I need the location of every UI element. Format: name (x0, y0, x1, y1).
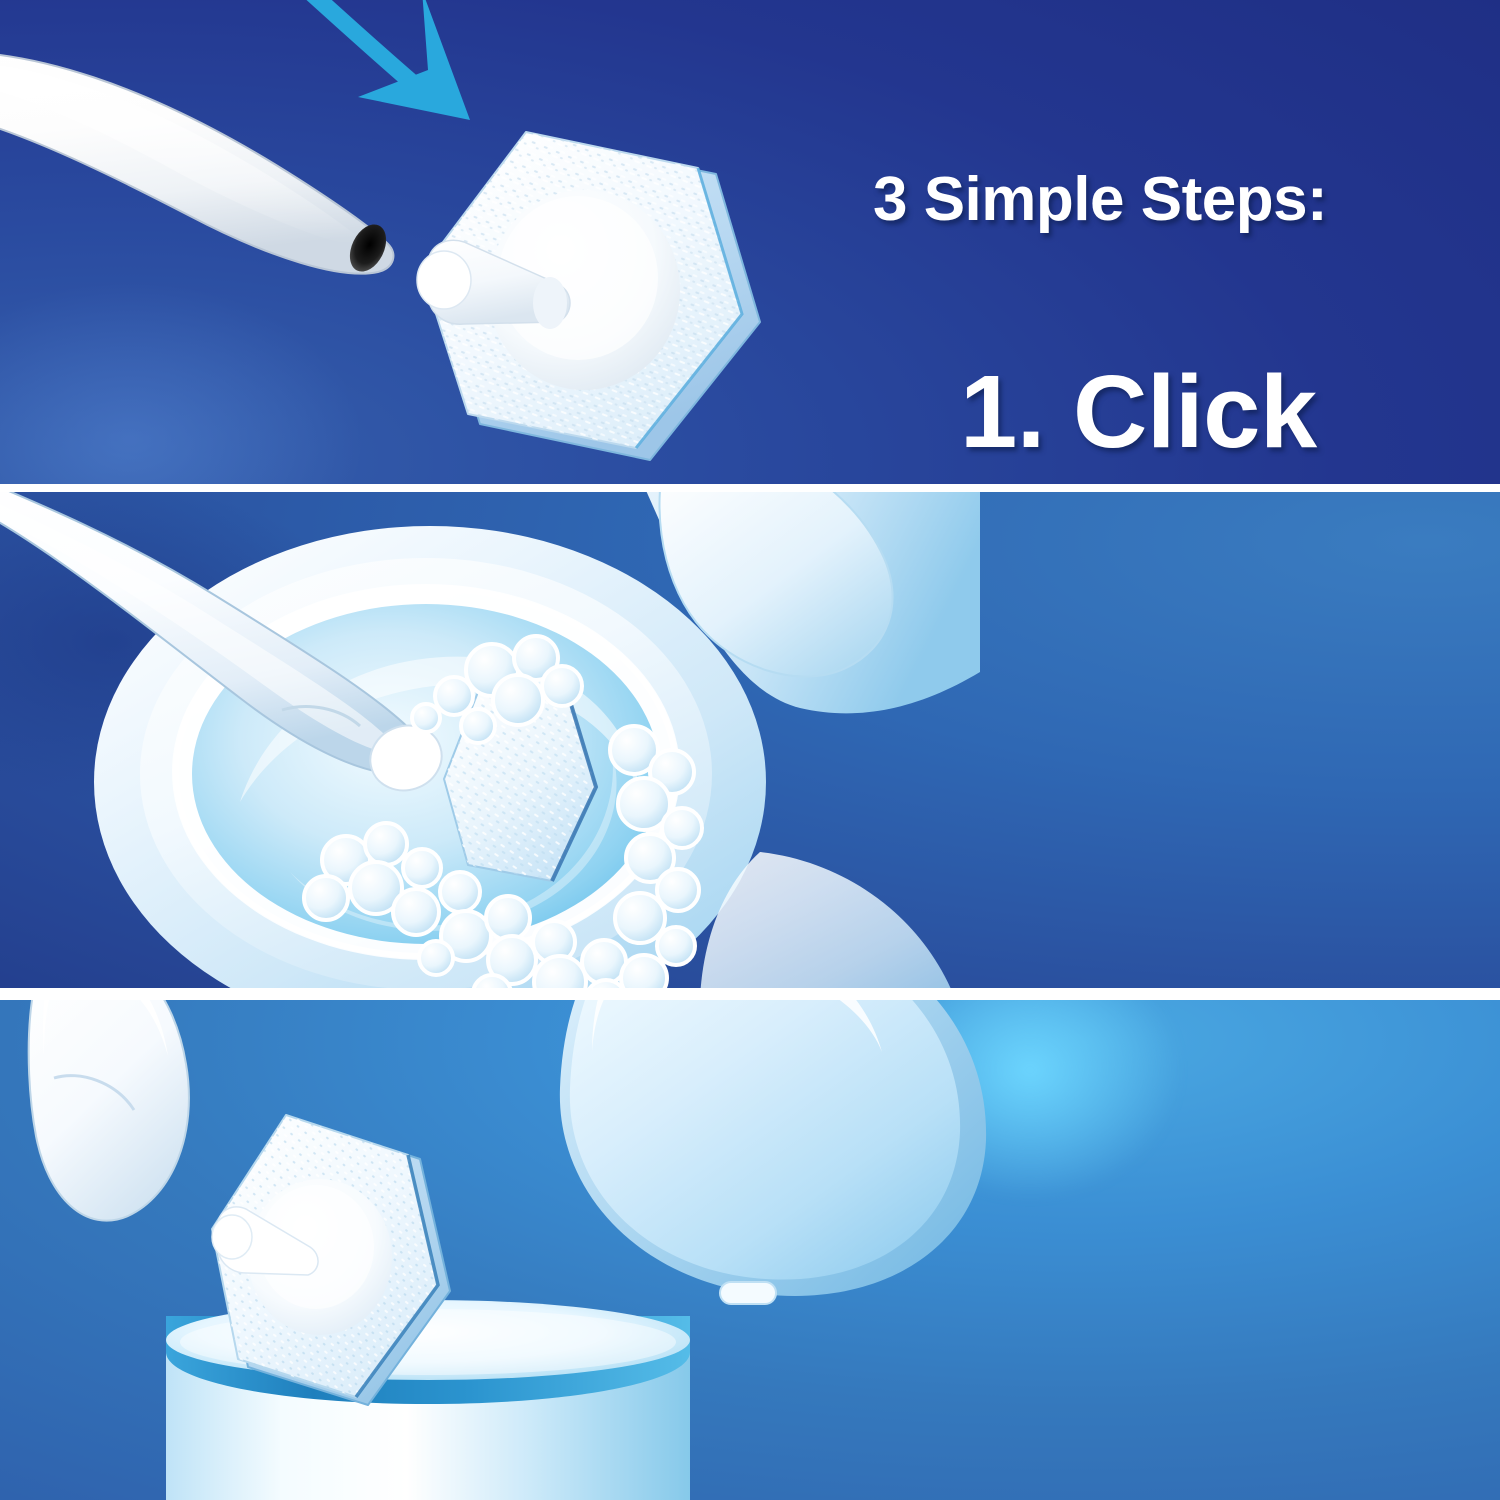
steps-heading: 3 Simple Steps: (873, 164, 1327, 235)
foam-bubbles (230, 622, 870, 988)
panel-divider-1 (0, 484, 1500, 492)
hexagonal-cleaning-pad (398, 118, 798, 478)
step-1-panel: 3 Simple Steps: 1. Click (0, 0, 1500, 484)
step-1-caption: 1. Click (960, 353, 1317, 471)
hexagonal-cleaning-pad (190, 1105, 550, 1445)
step-2-panel: 2. Swish (0, 492, 1500, 988)
step-3-panel: 3. Toss (0, 1000, 1500, 1500)
three-simple-steps-infographic: 3 Simple Steps: 1. Click (0, 0, 1500, 1500)
panel-divider-2 (0, 988, 1500, 996)
